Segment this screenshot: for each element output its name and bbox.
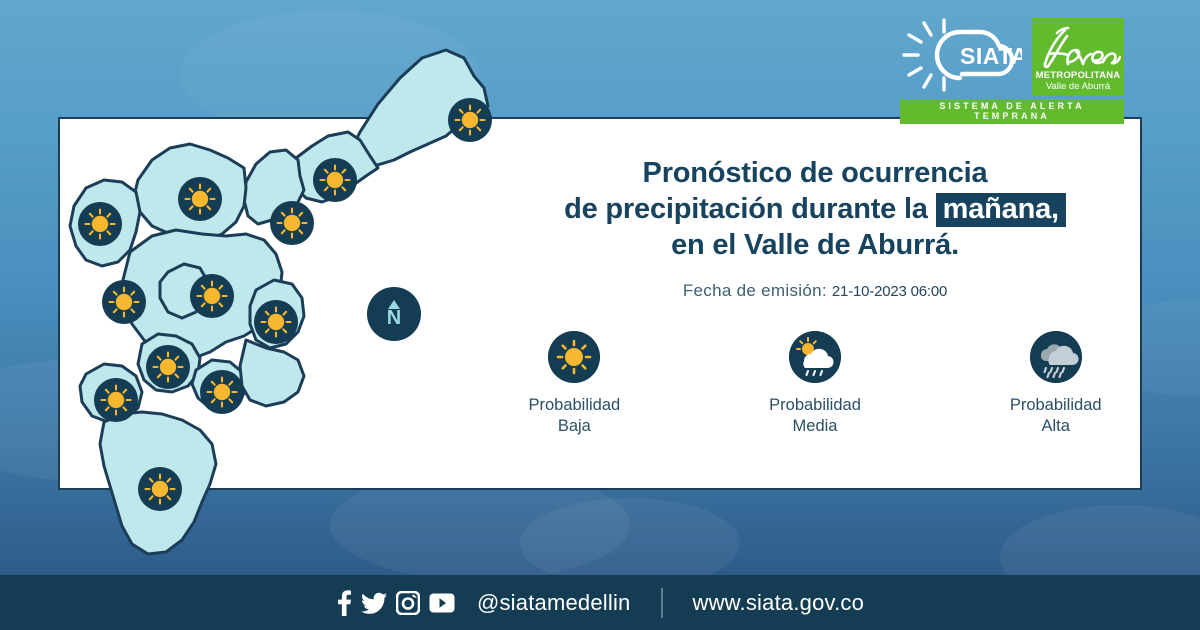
sun-icon [548,331,600,383]
headline-line-1: Pronóstico de ocurrencia [500,155,1130,191]
header-logos: SIATA METROPOLITANA Valle de [900,18,1124,124]
area-logo-line2: Valle de Aburrá [1046,81,1110,92]
facebook-icon[interactable] [336,590,352,616]
compass-label: N [387,308,401,328]
map-marker-sun-m1 [448,98,492,142]
map-marker-sun-m7 [190,274,234,318]
legend-label-baja: Probabilidad Baja [528,395,620,437]
map-marker-sun-m4 [178,177,222,221]
page-title: Pronóstico de ocurrencia de precipitació… [500,155,1130,263]
area-logo-line1: METROPOLITANA [1036,70,1121,81]
area-metropolitana-logo: METROPOLITANA Valle de Aburrá [1032,18,1124,96]
map-region-southeast [240,340,304,406]
emission-date-label: Fecha de emisión: [683,281,827,300]
twitter-icon[interactable] [361,590,387,616]
social-handle[interactable]: @siatamedellin [477,590,631,616]
website-url[interactable]: www.siata.gov.co [693,590,865,616]
siata-logo: SIATA [900,18,1022,92]
emission-date: Fecha de emisión: 21-10-2023 06:00 [500,281,1130,301]
headline-line-2-text: de precipitación durante la [564,193,928,225]
legend-item-alta: Probabilidad Alta [981,331,1130,437]
infographic-canvas: SIATA METROPOLITANA Valle de [0,0,1200,630]
legend-label-alta: Probabilidad Alta [1010,395,1102,437]
forecast-panel: Pronóstico de ocurrencia de precipitació… [500,155,1130,437]
social-icons [336,590,455,616]
map-marker-sun-m6 [102,280,146,324]
legend-item-media: Probabilidad Media [741,331,890,437]
siata-tagline: SISTEMA DE ALERTA TEMPRANA [900,99,1124,124]
headline-highlight-manana: mañana, [936,193,1066,227]
legend-label-media: Probabilidad Media [769,395,861,437]
youtube-icon[interactable] [429,593,455,613]
valle-de-aburra-map: N [60,40,490,570]
map-marker-sun-m5 [78,202,122,246]
map-marker-sun-m2 [313,158,357,202]
map-marker-sun-m10 [200,370,244,414]
footer-divider [661,588,663,618]
legend-item-baja: Probabilidad Baja [500,331,649,437]
cloud-rain-icon [1030,331,1082,383]
instagram-icon[interactable] [396,591,420,615]
footer-bar: @siatamedellin www.siata.gov.co [0,575,1200,630]
headline-line-2: de precipitación durante la mañana, [500,191,1130,227]
map-marker-sun-m12 [138,467,182,511]
map-marker-sun-m8 [254,300,298,344]
area-script-icon [1035,24,1121,70]
probability-legend: Probabilidad Baja [500,331,1130,437]
headline-line-3: en el Valle de Aburrá. [500,227,1130,263]
siata-logo-text: SIATA [960,43,1022,69]
compass-north-indicator: N [367,287,421,341]
sun-cloud-rain-icon [789,331,841,383]
map-marker-sun-m3 [270,201,314,245]
map-marker-sun-m11 [94,378,138,422]
map-marker-sun-m9 [146,345,190,389]
emission-date-value: 21-10-2023 06:00 [832,283,947,300]
